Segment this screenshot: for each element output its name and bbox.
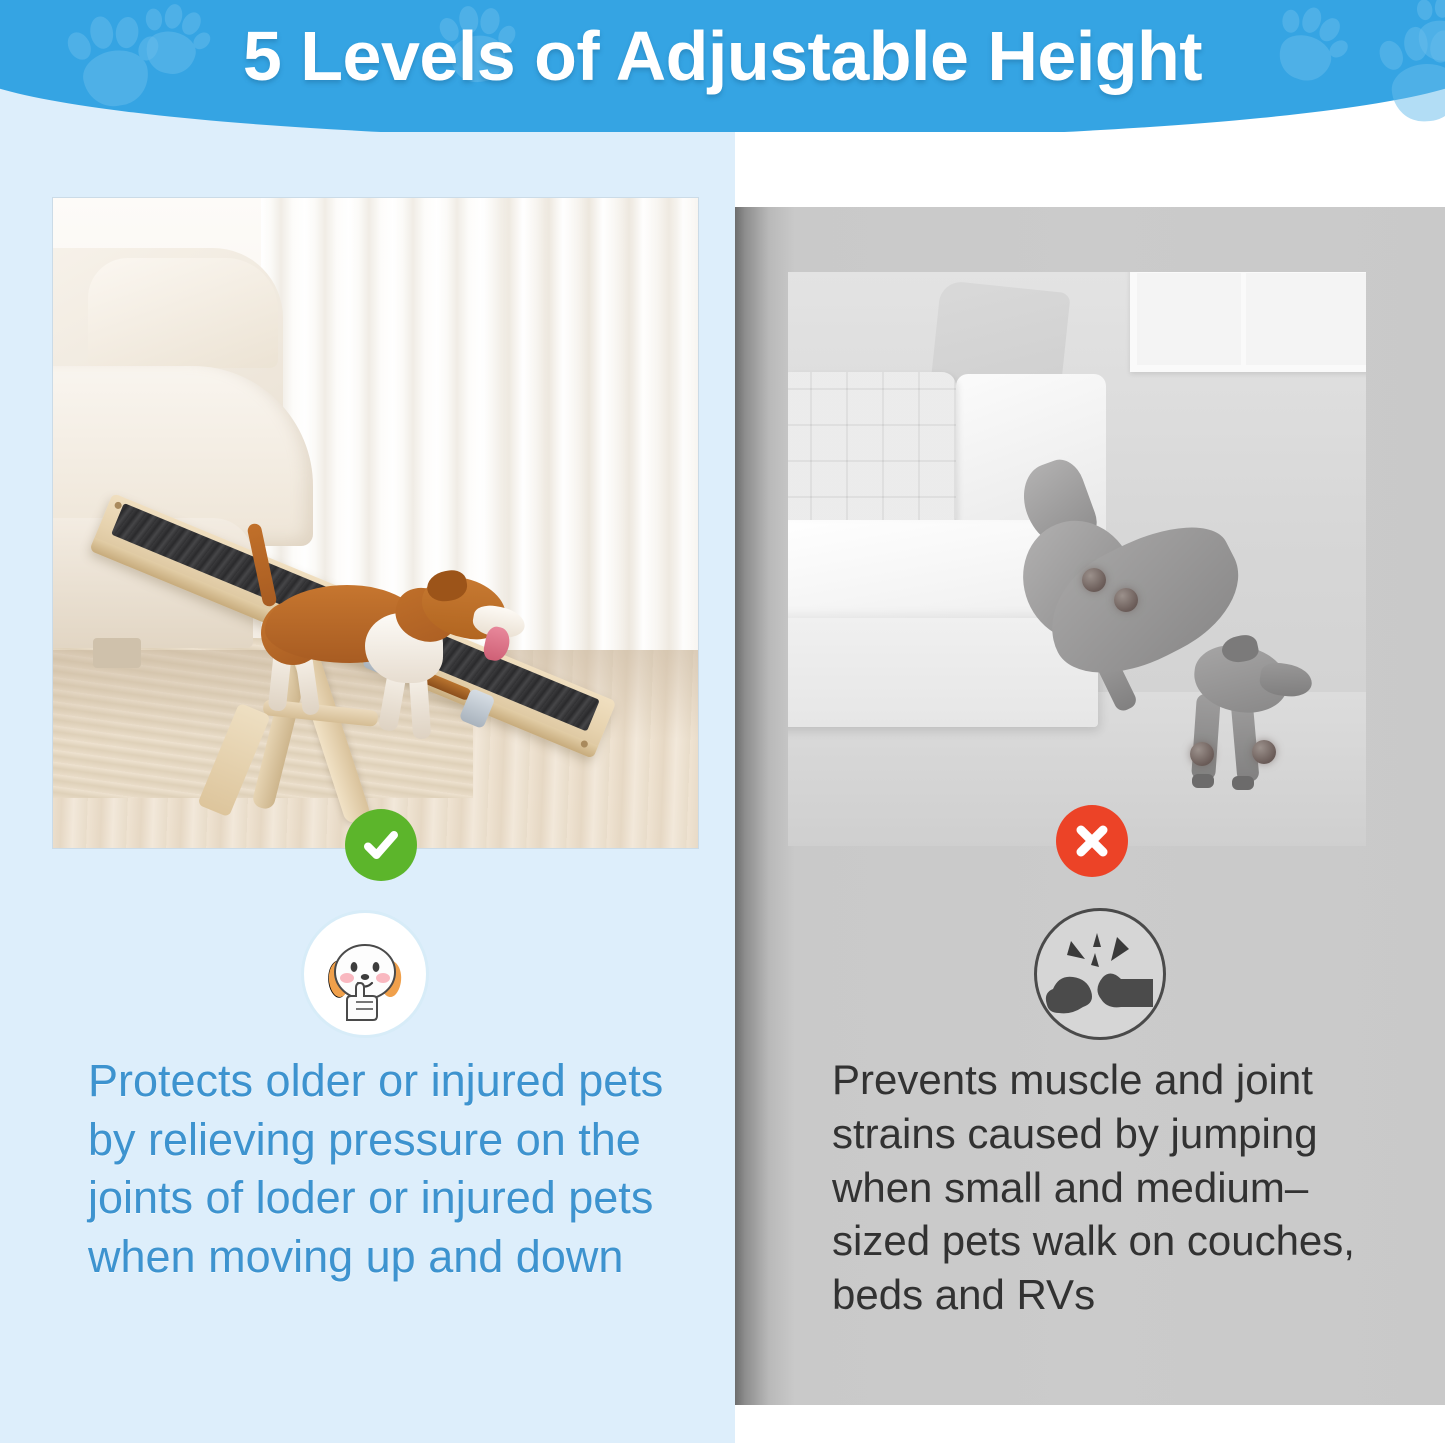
header-banner: 5 Levels of Adjustable Height (0, 0, 1445, 132)
joint-stress-marker (1114, 588, 1138, 612)
left-product-photo (53, 198, 698, 848)
status-badge-cross (1056, 805, 1128, 877)
happy-dog-thumbs-up-icon (301, 910, 429, 1038)
dog-paw (1192, 774, 1214, 788)
couch-pillow-checked (788, 372, 956, 532)
infographic-page: 5 Levels of Adjustable Height (0, 0, 1445, 1443)
joint-stress-marker (1190, 742, 1214, 766)
window-frame (1130, 272, 1366, 372)
left-caption-text: Protects older or injured pets by reliev… (88, 1052, 688, 1286)
sofa-cushion (88, 258, 278, 368)
dog-on-ramp (245, 523, 525, 753)
broken-bone-joint-pain-icon (1034, 908, 1166, 1040)
right-caption-text: Prevents muscle and joint strains caused… (832, 1053, 1372, 1322)
window-mullion (1241, 273, 1246, 365)
dog-jumping-off-couch (998, 458, 1318, 798)
right-comparison-photo (788, 272, 1366, 846)
joint-stress-marker (1082, 568, 1106, 592)
status-badge-check (345, 809, 417, 881)
dog-paw (1232, 776, 1254, 790)
dog-tail (246, 522, 277, 607)
page-title: 5 Levels of Adjustable Height (0, 0, 1445, 112)
joint-stress-marker (1252, 740, 1276, 764)
dog-front-leg (1191, 693, 1221, 780)
